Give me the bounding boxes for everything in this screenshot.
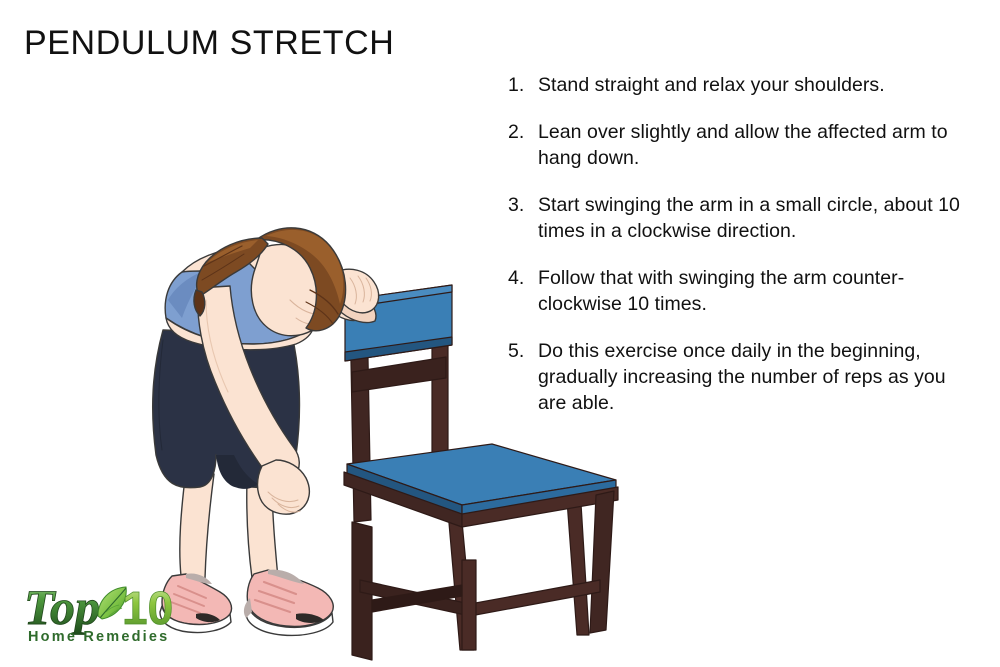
woman-figure-graphic — [153, 228, 379, 636]
list-item-text: Lean over slightly and allow the affecte… — [538, 119, 978, 171]
list-item: 1. Stand straight and relax your shoulde… — [508, 72, 978, 98]
list-item-text: Stand straight and relax your shoulders. — [538, 72, 978, 98]
page-title: PENDULUM STRETCH — [24, 24, 394, 63]
logo-word-top: Top — [24, 579, 100, 635]
infographic-canvas: PENDULUM STRETCH — [0, 0, 1000, 667]
logo-tagline: Home Remedies — [28, 629, 169, 645]
list-item-text: Follow that with swinging the arm counte… — [538, 265, 978, 317]
list-item-text: Start swinging the arm in a small circle… — [538, 192, 978, 244]
list-item-number: 5. — [508, 338, 524, 364]
instruction-list: 1. Stand straight and relax your shoulde… — [508, 72, 978, 416]
shoe-right — [244, 570, 333, 636]
list-item: 4. Follow that with swinging the arm cou… — [508, 265, 978, 317]
list-item: 2. Lean over slightly and allow the affe… — [508, 119, 978, 171]
list-item: 5. Do this exercise once daily in the be… — [508, 338, 978, 416]
list-item-text: Do this exercise once daily in the begin… — [538, 338, 978, 416]
list-item-number: 4. — [508, 265, 524, 291]
top10-home-remedies-logo[interactable]: Top 10 Home Remedies — [22, 578, 202, 650]
list-item-number: 3. — [508, 192, 524, 218]
list-item-number: 2. — [508, 119, 524, 145]
list-item: 3. Start swinging the arm in a small cir… — [508, 192, 978, 244]
list-item-number: 1. — [508, 72, 524, 98]
logo-word-number: 10 — [122, 582, 173, 634]
